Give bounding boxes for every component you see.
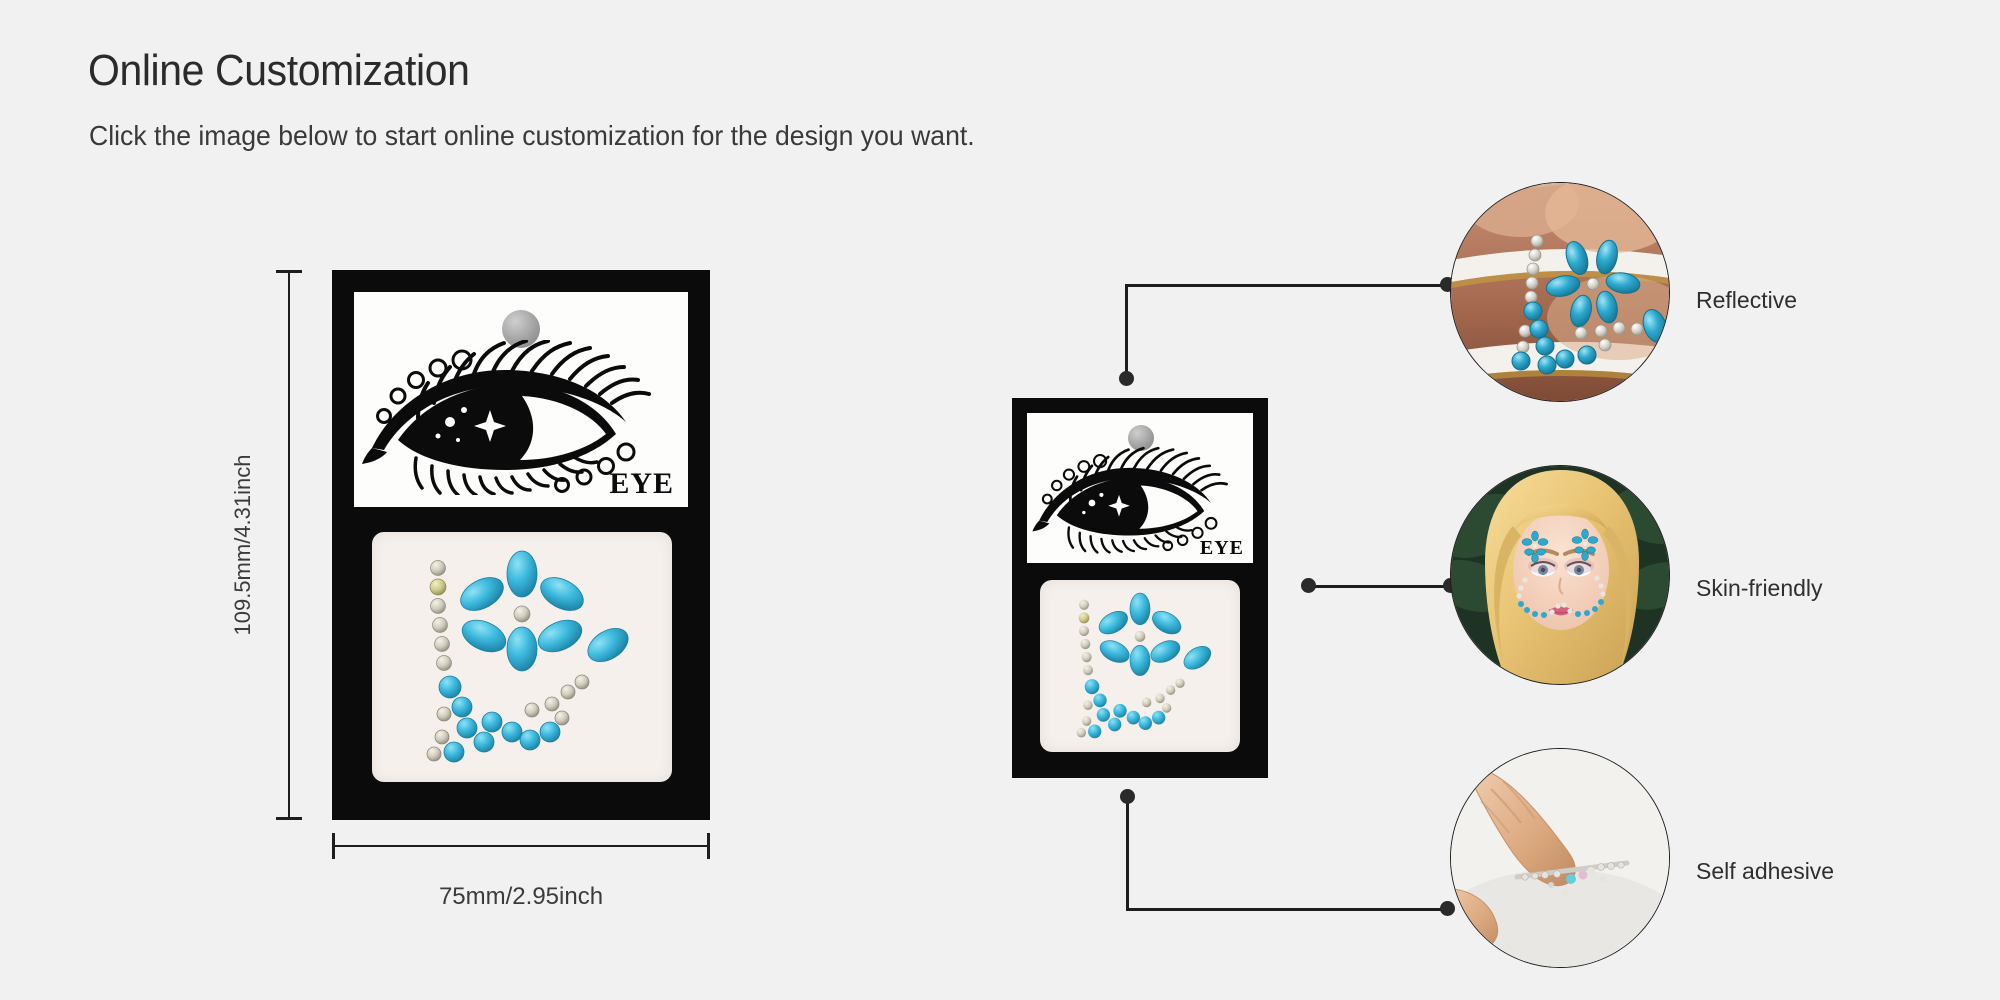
connector-skinfriendly-horizontal <box>1307 585 1450 588</box>
height-dimension-cap-top <box>276 270 302 273</box>
feature-image-skin-friendly[interactable] <box>1450 465 1670 685</box>
product-card-thumbnail[interactable]: EYE <box>1012 398 1268 778</box>
height-dimension-line <box>288 270 290 820</box>
page-title: Online Customization <box>88 46 469 96</box>
height-dimension-cap-bottom <box>276 817 302 820</box>
width-dimension-cap-left <box>332 833 335 859</box>
product-brand-text-thumbnail: EYE <box>1200 537 1244 560</box>
gem-tray-large <box>372 532 672 782</box>
product-card-large[interactable]: EYE <box>332 270 710 820</box>
online-customization-page: Online Customization Click the image bel… <box>0 0 2000 1000</box>
connector-dot-card-top <box>1119 371 1134 386</box>
reflective-photo <box>1451 183 1670 402</box>
width-dimension-line <box>332 845 710 847</box>
feature-label-reflective: Reflective <box>1696 287 1797 314</box>
connector-dot-card-middle <box>1301 578 1316 593</box>
feature-label-skin-friendly: Skin-friendly <box>1696 575 1823 602</box>
product-label-large: EYE <box>354 292 688 507</box>
feature-image-reflective[interactable] <box>1450 182 1670 402</box>
page-subtitle: Click the image below to start online cu… <box>89 120 975 152</box>
connector-selfadhesive-horizontal <box>1126 908 1447 911</box>
connector-selfadhesive-vertical <box>1126 795 1129 910</box>
feature-image-self-adhesive[interactable] <box>1450 748 1670 968</box>
connector-reflective-horizontal <box>1125 284 1447 287</box>
width-dimension-label: 75mm/2.95inch <box>439 883 603 911</box>
connector-reflective-vertical <box>1125 284 1128 378</box>
self-adhesive-photo <box>1451 749 1670 968</box>
gem-layout-thumbnail <box>1040 580 1240 752</box>
connector-dot-selfadhesive <box>1440 901 1455 916</box>
feature-label-self-adhesive: Self adhesive <box>1696 858 1834 885</box>
width-dimension-cap-right <box>707 833 710 859</box>
product-brand-text: EYE <box>609 467 674 501</box>
gem-tray-thumbnail <box>1040 580 1240 752</box>
connector-dot-card-bottom <box>1120 789 1135 804</box>
height-dimension-label: 109.5mm/4.31inch <box>230 455 256 636</box>
skin-friendly-photo <box>1451 466 1670 685</box>
product-label-thumbnail: EYE <box>1027 413 1253 563</box>
gem-layout-large <box>372 532 672 782</box>
